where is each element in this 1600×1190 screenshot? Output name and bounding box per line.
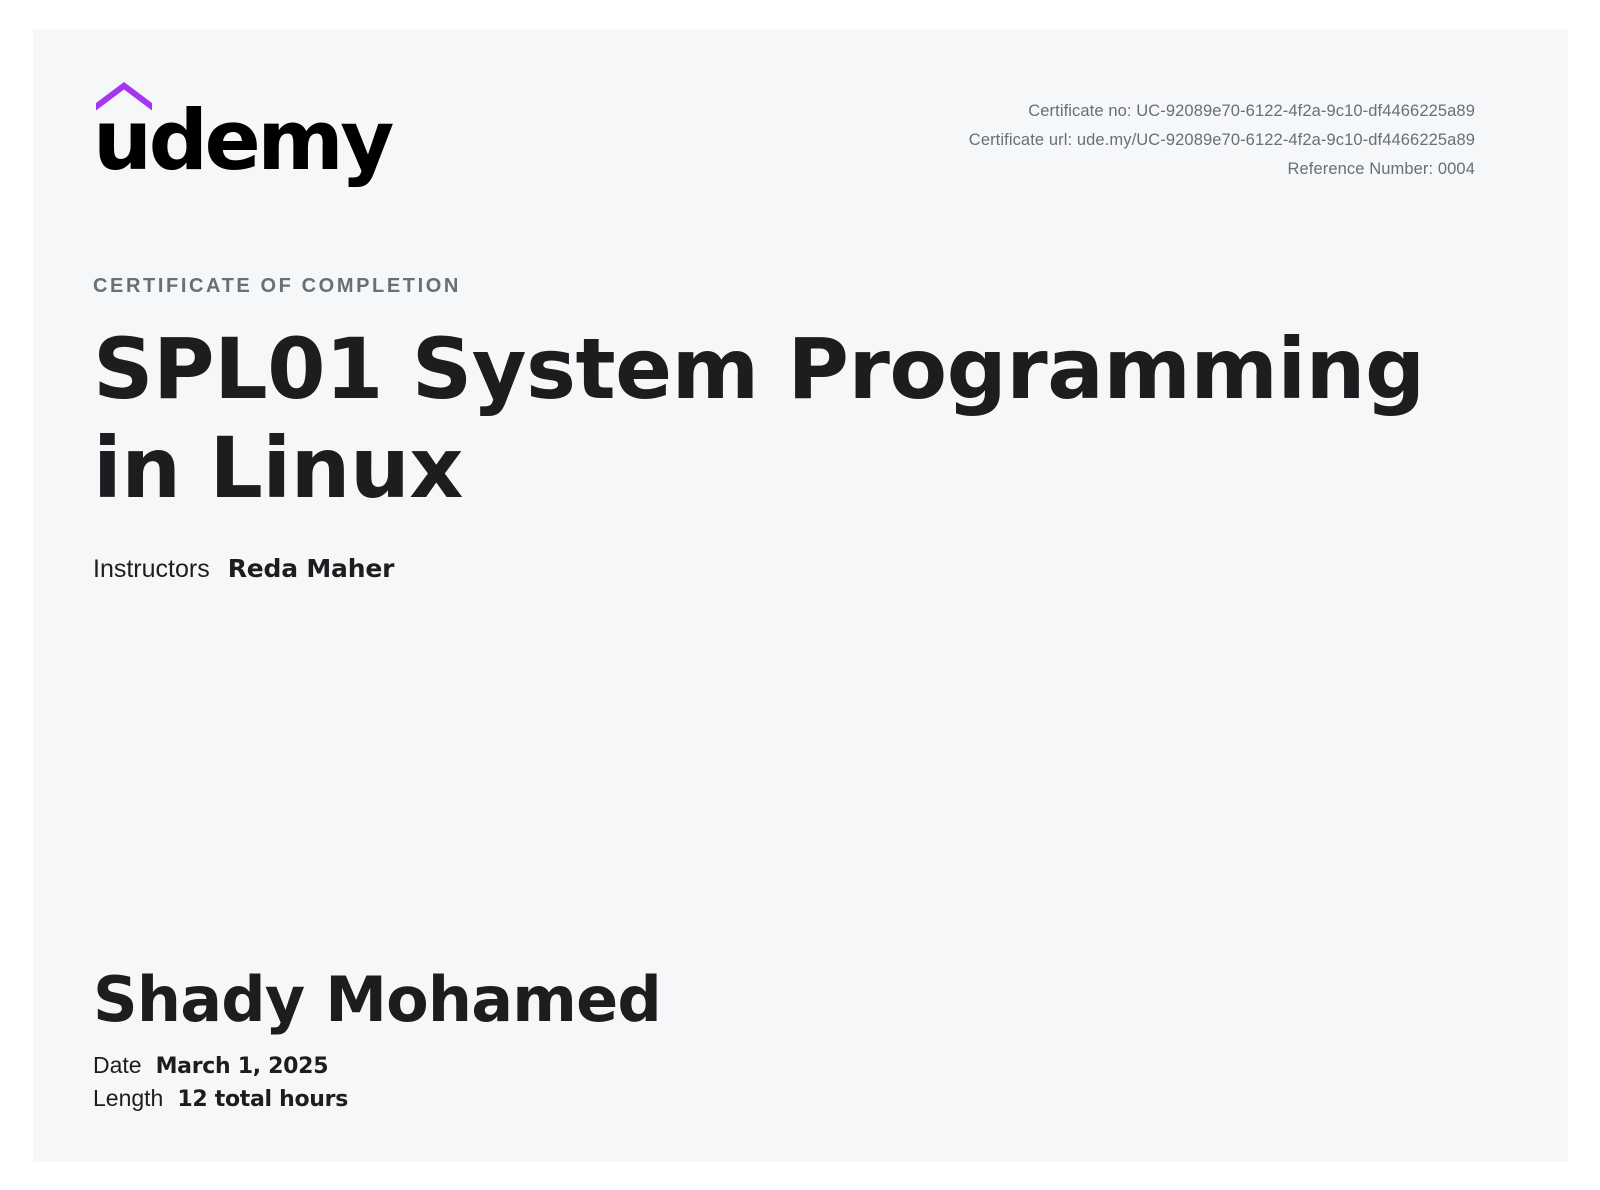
certificate-header: udemy Certificate no: UC-92089e70-6122-4… <box>33 29 1568 209</box>
certificate-number: Certificate no: UC-92089e70-6122-4f2a-9c… <box>969 97 1475 126</box>
certificate-body: CERTIFICATE OF COMPLETION SPL01 System P… <box>93 275 1508 584</box>
certificate-footer: Shady Mohamed Date March 1, 2025 Length … <box>93 965 1508 1112</box>
length-value: 12 total hours <box>177 1087 348 1112</box>
certificate-card: udemy Certificate no: UC-92089e70-6122-4… <box>33 29 1568 1162</box>
length-label: Length <box>93 1085 163 1112</box>
date-row: Date March 1, 2025 <box>93 1052 1508 1079</box>
course-title: SPL01 System Programming in Linux <box>93 320 1493 518</box>
udemy-logo: udemy <box>93 81 393 191</box>
certificate-url: Certificate url: ude.my/UC-92089e70-6122… <box>969 126 1475 155</box>
reference-number: Reference Number: 0004 <box>969 155 1475 184</box>
instructors-value: Reda Maher <box>228 554 395 583</box>
date-value: March 1, 2025 <box>156 1054 329 1079</box>
certificate-meta: Certificate no: UC-92089e70-6122-4f2a-9c… <box>969 97 1475 184</box>
date-label: Date <box>93 1052 142 1079</box>
instructors-row: Instructors Reda Maher <box>93 554 1508 584</box>
instructors-label: Instructors <box>93 555 210 584</box>
recipient-name: Shady Mohamed <box>93 965 1508 1034</box>
length-row: Length 12 total hours <box>93 1085 1508 1112</box>
certificate-page: udemy Certificate no: UC-92089e70-6122-4… <box>0 0 1600 1190</box>
certificate-eyebrow: CERTIFICATE OF COMPLETION <box>93 275 1508 298</box>
udemy-wordmark: udemy <box>93 99 391 182</box>
